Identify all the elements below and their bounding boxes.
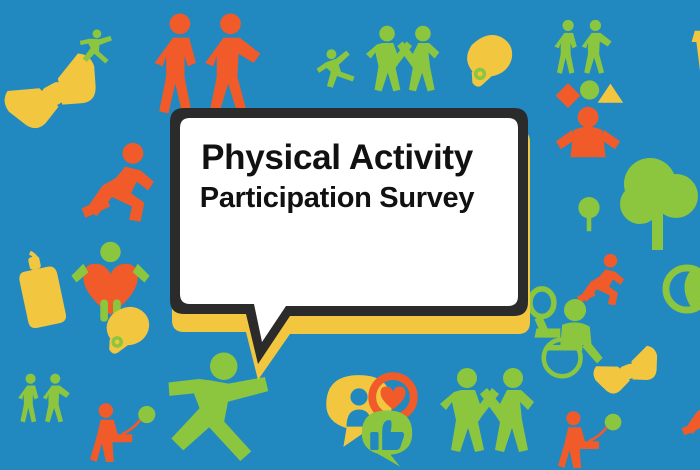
speech-bubble-layer: Physical Activity Participation Survey: [0, 0, 700, 470]
speech-bubble-graphic: [0, 0, 700, 470]
poster-canvas: Physical Activity Participation Survey: [0, 0, 700, 470]
